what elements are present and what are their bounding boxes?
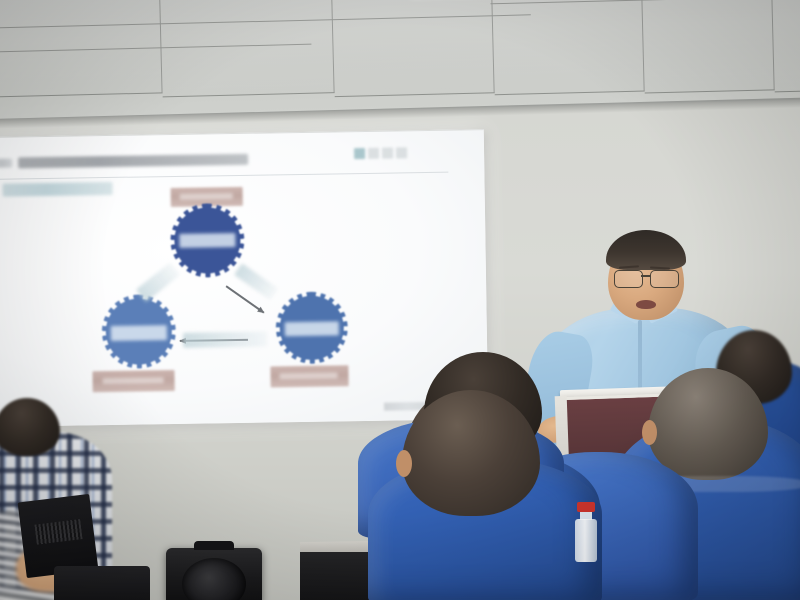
diagram-node-top-label [180, 233, 236, 248]
projection-screen[interactable] [0, 129, 488, 427]
diagram-node-bottom-left-gear [105, 298, 172, 365]
ceiling-tile [642, 0, 775, 94]
attendee-mid-right-ear [642, 420, 657, 445]
diagram-node-bottom-right-gear [279, 295, 344, 360]
slide-title-underline [0, 172, 448, 180]
presenter-hair [606, 230, 686, 270]
slide-corner-char [354, 148, 365, 159]
slide-subtitle-text [2, 182, 112, 197]
diagram-node-bottom-left-caption-text [102, 377, 163, 384]
glasses-lens-right [650, 270, 679, 288]
diagram-node-bottom-right[interactable] [269, 295, 367, 400]
diagram-arrow-right-to-left-label [183, 332, 267, 348]
ceiling-tile [160, 0, 335, 97]
water-bottle-cap [577, 502, 595, 512]
diagram-node-bottom-right-caption [270, 365, 348, 387]
slide-corner-char [368, 148, 379, 159]
chair-back [54, 566, 150, 600]
diagram-node-bottom-right-label [285, 322, 339, 337]
slide-corner-text [354, 147, 407, 159]
slide-corner-char [396, 147, 407, 158]
diagram-node-bottom-left[interactable] [91, 298, 189, 403]
diagram-node-top-caption-text [179, 193, 232, 199]
slide-title-bullet [0, 159, 12, 168]
diagram-node-bottom-left-label [111, 325, 167, 340]
water-bottle[interactable] [573, 502, 599, 562]
glasses-lens-left [614, 270, 643, 288]
presenter-mouth [636, 300, 656, 309]
slide-title [0, 152, 322, 170]
presentation-photo-scene [0, 0, 800, 600]
pa-speaker-handle [194, 541, 234, 550]
diagram-node-top-gear [174, 207, 241, 274]
ceiling-tile [772, 0, 800, 92]
diagram-node-bottom-left-caption [92, 370, 174, 392]
glasses-bridge [641, 275, 650, 277]
ceiling-tile [332, 0, 495, 97]
diagram-node-bottom-right-caption-text [280, 373, 338, 380]
slide-title-text [18, 154, 248, 169]
attendee-front-center-ear-overlap [396, 450, 412, 477]
laptop-vent [34, 519, 82, 544]
pa-speaker[interactable] [166, 548, 262, 600]
water-bottle-body [575, 519, 597, 562]
pa-speaker-cone [182, 558, 246, 600]
presenter-glasses [612, 270, 684, 288]
slide-corner-char [382, 148, 393, 159]
